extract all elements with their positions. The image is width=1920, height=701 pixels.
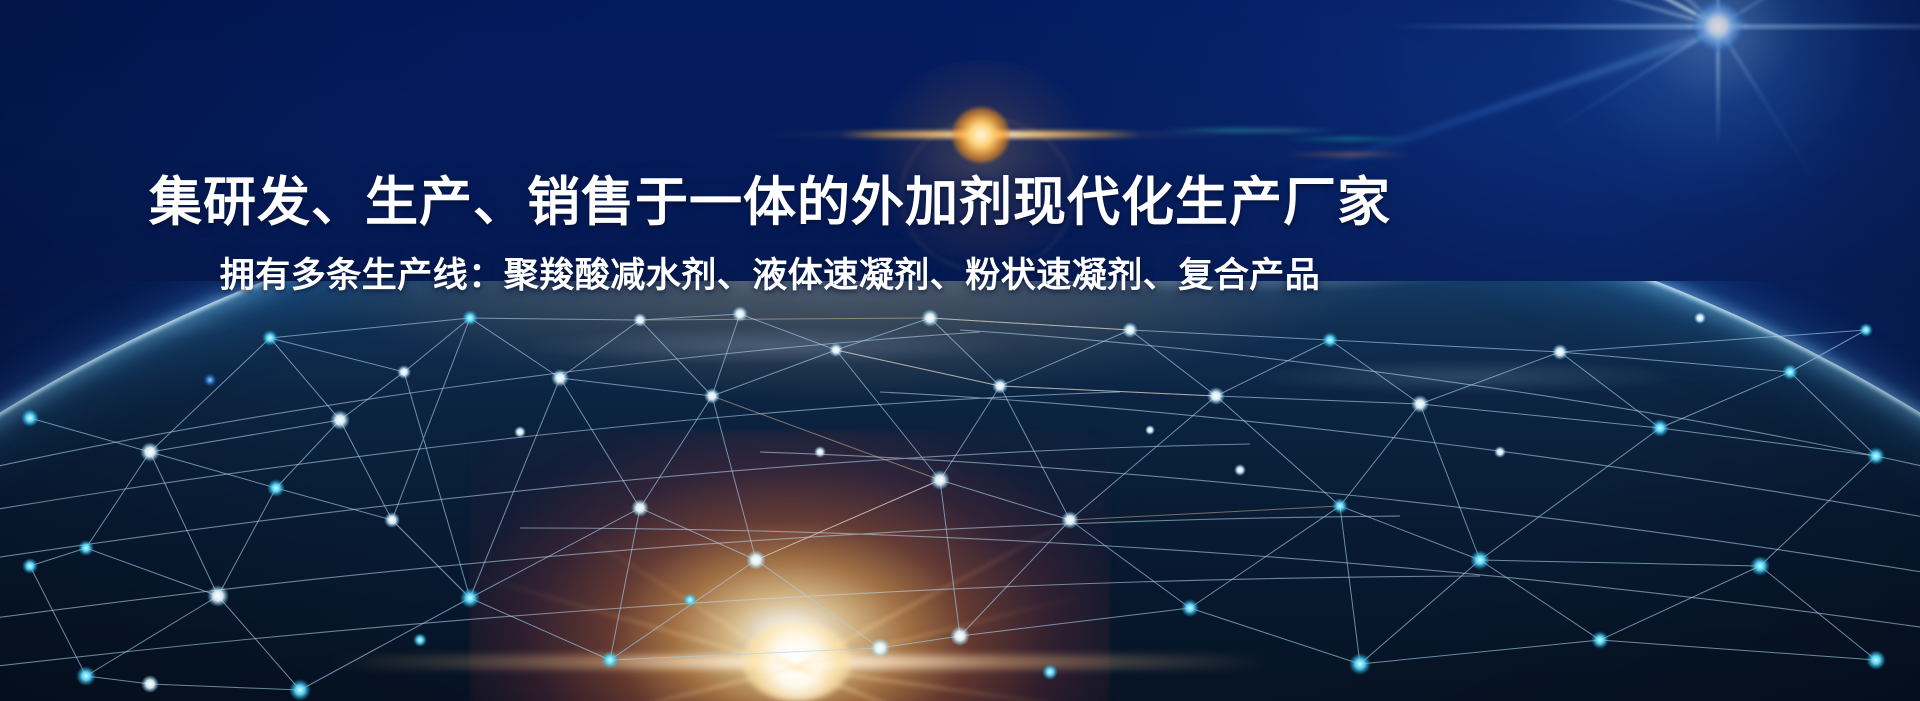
banner-text-block: 集研发、生产、销售于一体的外加剂现代化生产厂家 拥有多条生产线：聚羧酸减水剂、液… bbox=[0, 0, 1540, 297]
hero-banner: 集研发、生产、销售于一体的外加剂现代化生产厂家 拥有多条生产线：聚羧酸减水剂、液… bbox=[0, 0, 1920, 701]
page-subtitle: 拥有多条生产线：聚羧酸减水剂、液体速凝剂、粉状速凝剂、复合产品 bbox=[0, 235, 1540, 297]
page-title: 集研发、生产、销售于一体的外加剂现代化生产厂家 bbox=[0, 0, 1540, 235]
